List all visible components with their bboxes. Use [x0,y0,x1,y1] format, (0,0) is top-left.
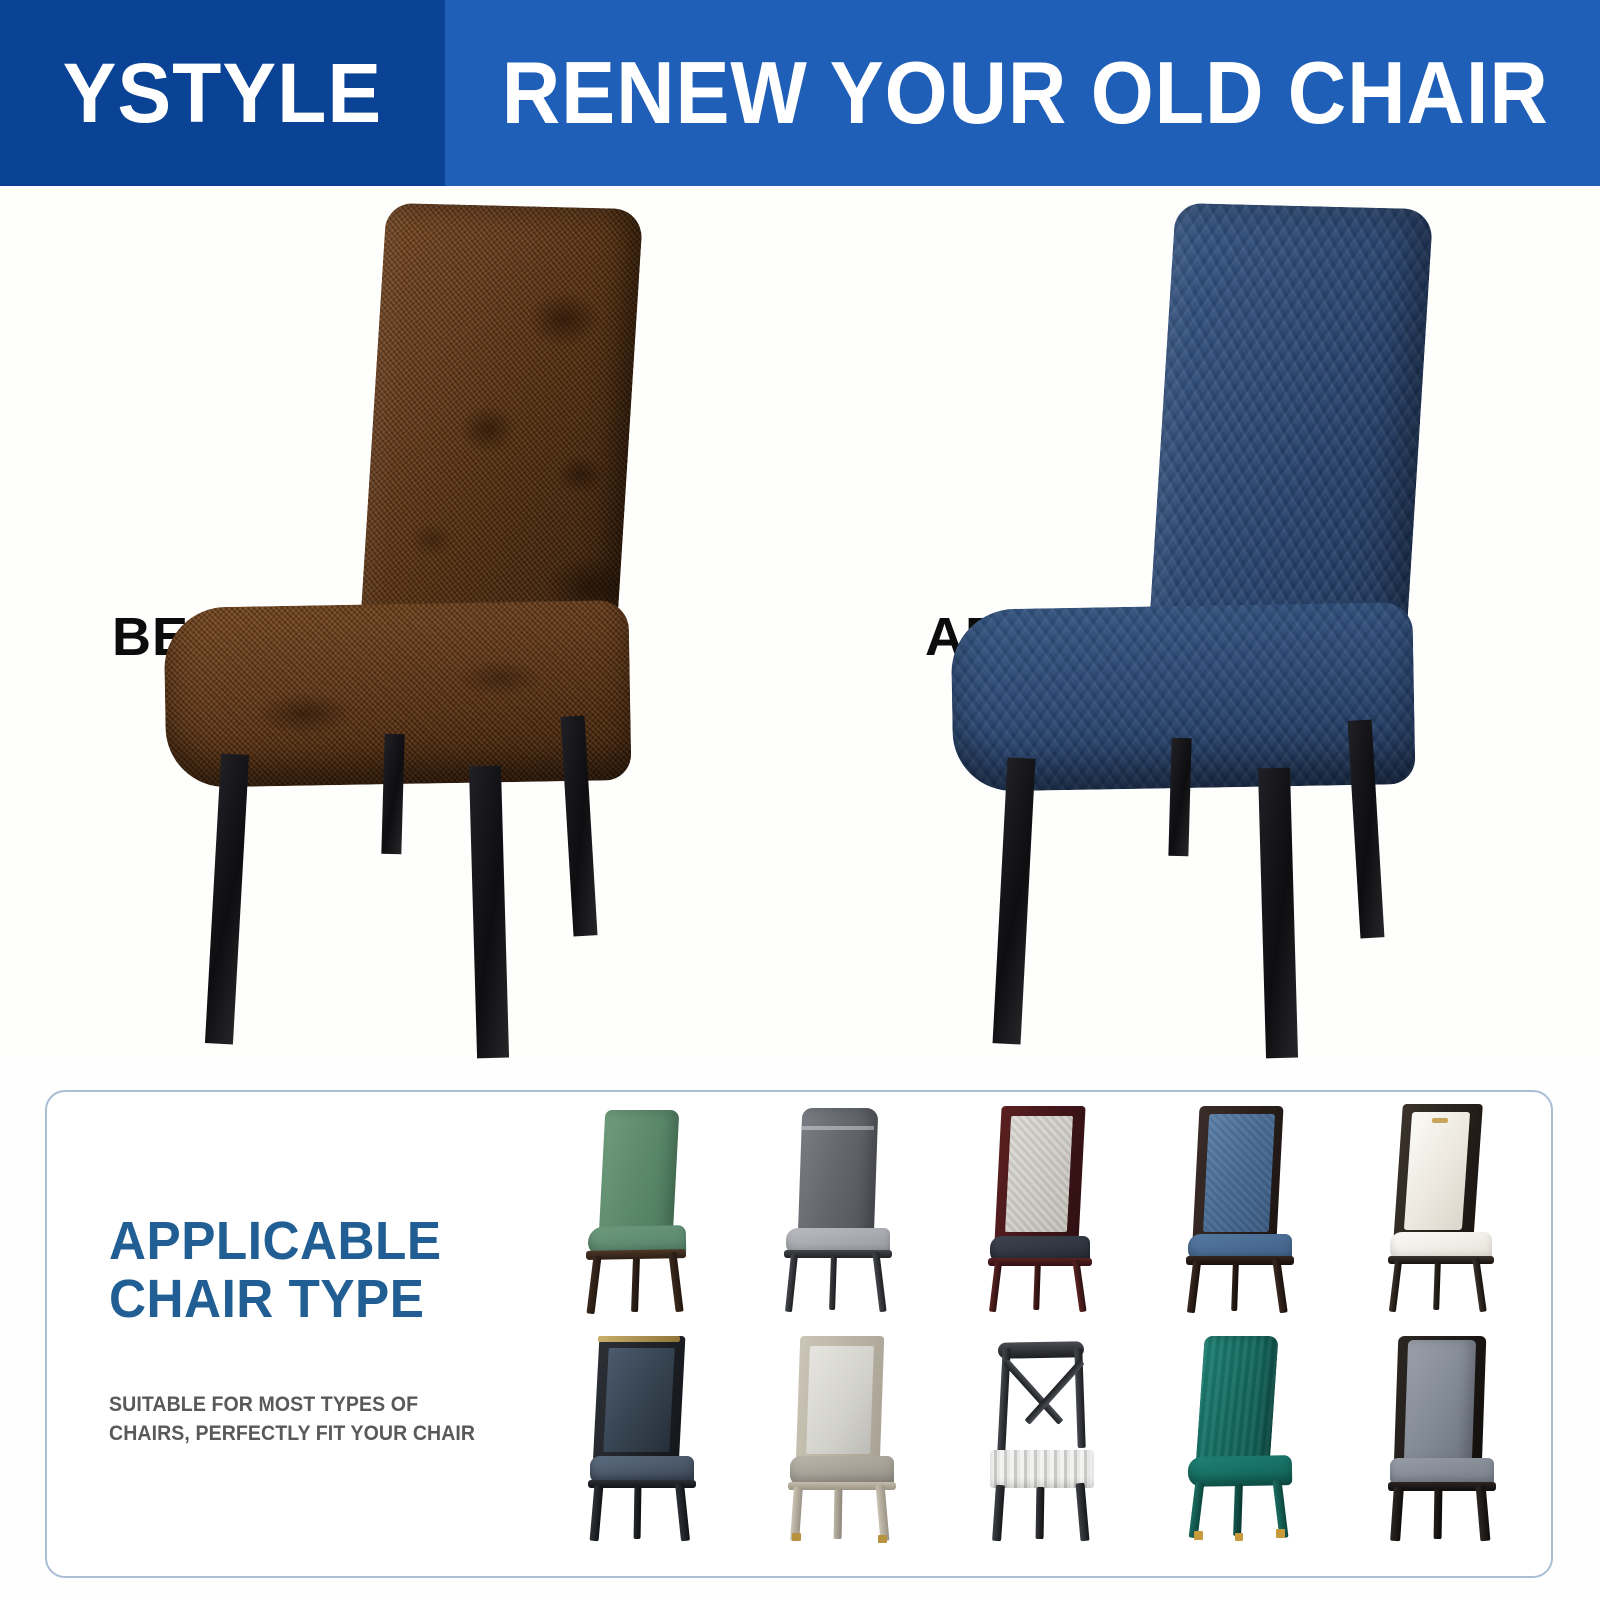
applicable-chair-type-panel: APPLICABLE CHAIR TYPE SUITABLE FOR MOST … [45,1090,1553,1578]
chair-thumbnail-cross-back-chair-with-pleated-skirt [947,1330,1147,1562]
brand-name: YSTYLE [63,51,382,135]
applicable-text-block: APPLICABLE CHAIR TYPE SUITABLE FOR MOST … [109,1212,539,1449]
chair-leg [785,1254,798,1312]
chair-leg [1036,1487,1045,1539]
after-chair-leg-front-right [1258,768,1298,1059]
chair-leg [590,1485,604,1542]
chair-thumbnail-green-upholstered-high-back-chair [547,1102,747,1330]
chair-leg [631,1258,640,1312]
chair-foot-cap [792,1533,801,1541]
chair-leg [1187,1261,1201,1314]
chair-thumbnail-cream-white-upholstered-chair [1347,1102,1547,1330]
chair-back [806,1346,874,1454]
chair-thumbnail-mahogany-frame-cream-back-chair [947,1102,1147,1330]
after-chair-leg-front-left [993,757,1036,1044]
chair-leg [1472,1258,1486,1312]
chair-leg [1189,1482,1205,1539]
chair-leg [989,1262,1002,1312]
chair-back [1404,1112,1470,1230]
chair-back [1203,1114,1275,1232]
chair-back-bar [802,1126,874,1130]
before-chair-backrest [360,203,644,639]
banner-headline: RENEW YOUR OLD CHAIR [491,0,1554,186]
before-chair-leg-front-left [205,753,249,1044]
chair-thumbnail-gray-modern-metal-frame-chair [747,1102,947,1330]
chair-leg [1272,1259,1287,1314]
chair-thumbnail-beige-painted-frame-chair [747,1330,947,1562]
chair-leg [1434,1489,1443,1539]
chair-thumbnail-gray-leather-dark-frame-chair [1347,1330,1547,1562]
chair-back [599,1110,680,1238]
chair-thumbnail-grid [547,1102,1547,1572]
chair-foot-cap [878,1535,887,1543]
before-chair-leg-back-left [381,734,404,855]
before-chair-leg-front-right [469,766,509,1059]
chair-top-accent [598,1336,680,1342]
brand-block: YSTYLE [0,0,445,186]
chair-leg [1433,1262,1441,1310]
chair-leg [834,1489,843,1539]
chair-leg [1389,1260,1402,1312]
chair-thumbnail-navy-classic-framed-chair [547,1330,747,1562]
chair-back [1005,1116,1073,1232]
chair-leg [1075,1483,1089,1542]
after-chair-backrest [1149,203,1434,641]
chair-foot-cap [1276,1529,1285,1538]
after-chair-leg-back-left [1168,738,1191,857]
chair-thumbnail-blue-upholstered-dark-frame-chair [1147,1102,1347,1330]
chair-back-accent [1432,1118,1448,1123]
chair-leg [992,1485,1005,1541]
applicable-title: APPLICABLE CHAIR TYPE [109,1212,518,1329]
chair-leg [1231,1263,1239,1311]
chair-leg [675,1483,690,1542]
chair-leg [1390,1487,1404,1542]
before-chair-image [155,206,625,1051]
header-banner: YSTYLE RENEW YOUR OLD CHAIR [0,0,1600,186]
chair-leg [1233,1484,1243,1536]
chair-leg [876,1485,890,1542]
chair-leg [586,1256,601,1315]
chair-leg [668,1252,683,1313]
chair-foot-cap [1194,1531,1203,1540]
chair-leg [1072,1260,1086,1312]
chair-thumbnail-emerald-velvet-chair-gold-feet [1147,1330,1347,1562]
chair-leg [1476,1485,1491,1542]
before-after-comparison: BEFORE AFTER [0,186,1600,1061]
chair-back [603,1348,674,1452]
after-chair-image [940,206,1410,1051]
chair-leg [829,1256,837,1310]
chair-leg [1033,1264,1041,1310]
chair-back [1404,1340,1476,1462]
chair-foot-cap [1235,1533,1243,1541]
chair-top-rail [998,1341,1084,1358]
applicable-subtitle: SUITABLE FOR MOST TYPES OF CHAIRS, PERFE… [109,1391,509,1449]
chair-back [1195,1336,1278,1468]
chair-leg [634,1487,642,1539]
chair-leg [872,1252,886,1312]
